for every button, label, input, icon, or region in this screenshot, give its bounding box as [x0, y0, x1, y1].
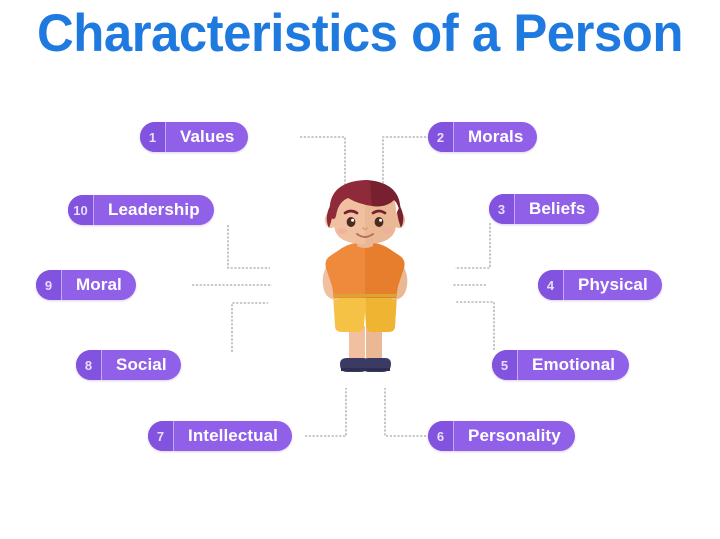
boy-illustration	[300, 176, 430, 391]
node-pill-9[interactable]: 9 Moral	[36, 270, 136, 300]
node-label-5: Emotional	[518, 350, 629, 380]
node-label-1: Values	[166, 122, 248, 152]
node-pill-3[interactable]: 3 Beliefs	[489, 194, 599, 224]
node-pill-6[interactable]: 6 Personality	[428, 421, 575, 451]
node-pill-8[interactable]: 8 Social	[76, 350, 181, 380]
node-number-1: 1	[140, 122, 166, 152]
page-title: Characteristics of a Person	[14, 4, 705, 64]
node-pill-1[interactable]: 1 Values	[140, 122, 248, 152]
node-pill-2[interactable]: 2 Morals	[428, 122, 537, 152]
node-number-2: 2	[428, 122, 454, 152]
node-label-6: Personality	[454, 421, 575, 451]
node-number-10: 10	[68, 195, 94, 225]
node-number-6: 6	[428, 421, 454, 451]
node-pill-4[interactable]: 4 Physical	[538, 270, 662, 300]
node-label-3: Beliefs	[515, 194, 599, 224]
connector-6	[385, 388, 430, 436]
infographic-canvas: Characteristics of a Person	[0, 0, 720, 539]
node-label-4: Physical	[564, 270, 662, 300]
node-pill-10[interactable]: 10 Leadership	[68, 195, 214, 225]
node-pill-7[interactable]: 7 Intellectual	[148, 421, 292, 451]
node-number-5: 5	[492, 350, 518, 380]
node-label-10: Leadership	[94, 195, 214, 225]
connector-5	[455, 302, 494, 350]
node-number-3: 3	[489, 194, 515, 224]
node-number-4: 4	[538, 270, 564, 300]
node-label-9: Moral	[62, 270, 136, 300]
connector-8	[232, 303, 268, 352]
node-number-8: 8	[76, 350, 102, 380]
node-number-9: 9	[36, 270, 62, 300]
connector-3	[455, 223, 490, 268]
connector-10	[228, 225, 270, 268]
node-label-8: Social	[102, 350, 181, 380]
node-label-7: Intellectual	[174, 421, 292, 451]
connector-7	[305, 388, 346, 436]
node-number-7: 7	[148, 421, 174, 451]
node-pill-5[interactable]: 5 Emotional	[492, 350, 629, 380]
node-label-2: Morals	[454, 122, 537, 152]
